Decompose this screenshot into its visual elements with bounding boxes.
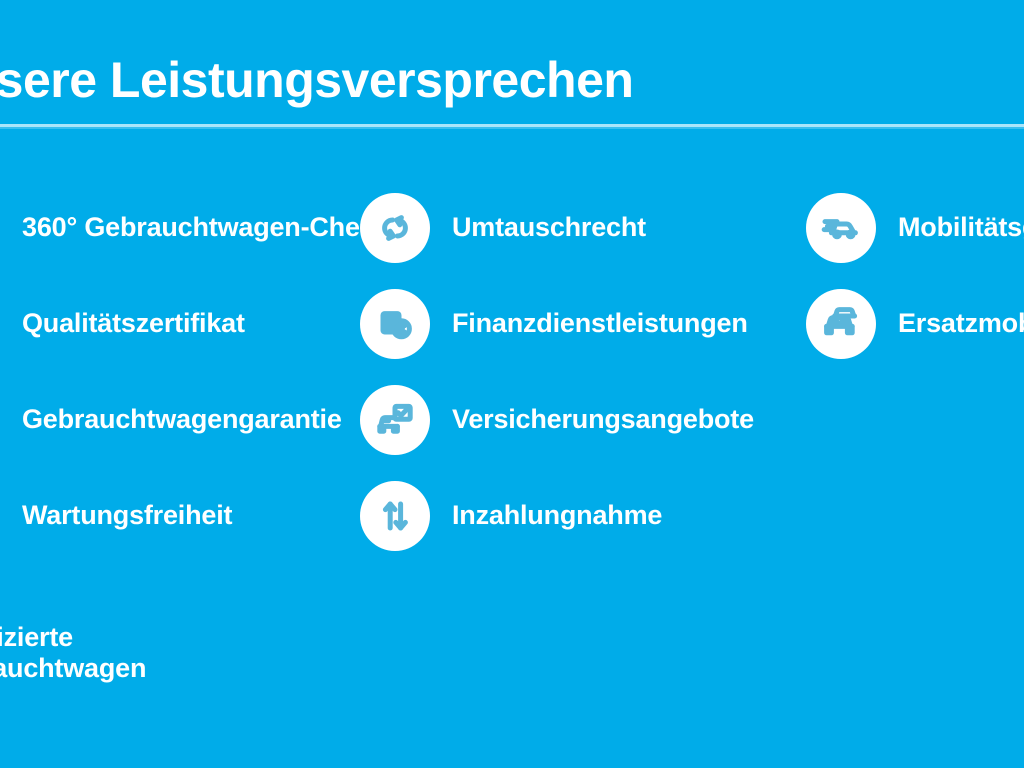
- feature-label: Qualitätszertifikat: [22, 309, 245, 339]
- footer-note-line-2: Gebrauchtwagen: [0, 653, 450, 684]
- slide-root: Unsere Leistungsversprechen 360° Gebrauc…: [0, 0, 1024, 768]
- car-document-check-icon: [360, 385, 430, 455]
- feature-label: 360° Gebrauchtwagen-Check: [22, 213, 389, 243]
- slide-header: Unsere Leistungsversprechen: [0, 48, 1024, 112]
- feature-label: Inzahlungnahme: [452, 501, 662, 531]
- feature-item-finanzdienstleistungen[interactable]: Finanzdienstleistungen: [360, 276, 800, 372]
- feature-item-umtauschrecht[interactable]: Umtauschrecht: [360, 180, 800, 276]
- exchange-arrows-icon: [360, 193, 430, 263]
- car-motion-icon: [806, 193, 876, 263]
- feature-label: Finanzdienstleistungen: [452, 309, 748, 339]
- feature-columns: 360° Gebrauchtwagen-Check Qualitätszerti…: [0, 180, 1024, 600]
- feature-item-qualitaetszertifikat[interactable]: Qualitätszertifikat: [0, 276, 370, 372]
- feature-label: Wartungsfreiheit: [22, 501, 232, 531]
- column-right: Mobilitätsgarantie Ersatzmobilitä: [806, 180, 1024, 372]
- footer-note-line-1: Zertifizierte: [0, 622, 450, 653]
- feature-label: Versicherungsangebote: [452, 405, 754, 435]
- feature-item-gebrauchtwagengarantie[interactable]: Gebrauchtwagengarantie: [0, 372, 370, 468]
- footer-note: Zertifizierte Gebrauchtwagen: [0, 622, 450, 684]
- coins-euro-icon: [360, 289, 430, 359]
- feature-item-gebrauchtwagen-check[interactable]: 360° Gebrauchtwagen-Check: [0, 180, 370, 276]
- feature-label: Umtauschrecht: [452, 213, 646, 243]
- feature-label: Gebrauchtwagengarantie: [22, 405, 342, 435]
- feature-label: Ersatzmobilität: [898, 309, 1024, 339]
- two-cars-icon: [806, 289, 876, 359]
- feature-item-inzahlungnahme[interactable]: Inzahlungnahme: [360, 468, 800, 564]
- feature-item-ersatzmobilitaet[interactable]: Ersatzmobilität: [806, 276, 1024, 372]
- feature-item-versicherungsangebote[interactable]: Versicherungsangebote: [360, 372, 800, 468]
- column-left: 360° Gebrauchtwagen-Check Qualitätszerti…: [0, 180, 370, 564]
- header-divider-shadow: [0, 127, 1024, 129]
- feature-item-wartungsfreiheit[interactable]: Wartungsfreiheit: [0, 468, 370, 564]
- feature-item-mobilitaetsgarantie[interactable]: Mobilitätsgarantie: [806, 180, 1024, 276]
- page-title: Unsere Leistungsversprechen: [0, 48, 1024, 112]
- up-down-arrows-icon: [360, 481, 430, 551]
- feature-label: Mobilitätsgarantie: [898, 213, 1024, 243]
- column-middle: Umtauschrecht Finanzdienstleistun: [360, 180, 800, 564]
